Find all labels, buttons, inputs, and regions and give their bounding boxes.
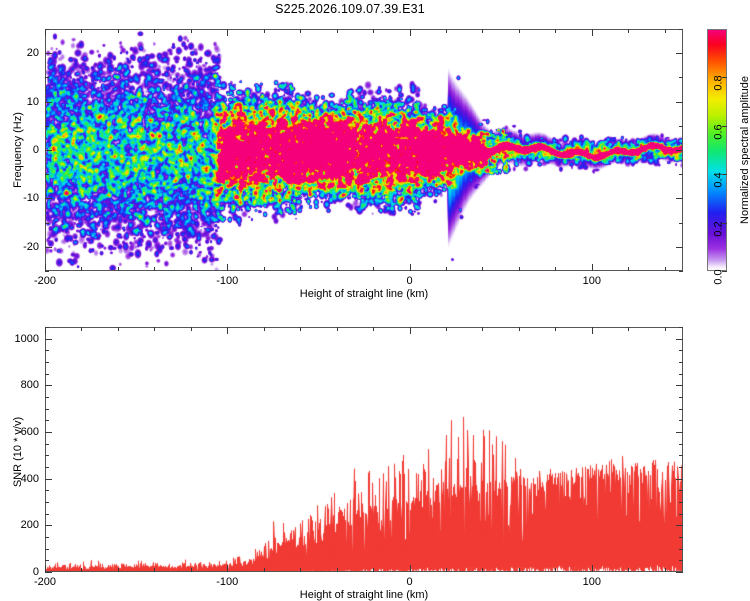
snr-y-major-tick	[676, 572, 683, 573]
snr-y-minor-tick	[45, 455, 49, 456]
spectrogram-x-minor-tick	[373, 267, 374, 271]
snr-x-minor-tick	[81, 327, 82, 331]
spectrogram-y-major-tick	[676, 198, 683, 199]
spectrogram-x-minor-tick	[191, 267, 192, 271]
snr-x-major-tick	[45, 327, 46, 334]
snr-y-minor-tick	[679, 444, 683, 445]
spectrogram-y-major-tick	[45, 247, 52, 248]
snr-y-minor-tick	[679, 549, 683, 550]
snr-x-minor-tick	[373, 568, 374, 572]
spectrogram-x-minor-tick	[337, 29, 338, 33]
colorbar-tick-label: 0.0	[712, 269, 724, 284]
spectrogram-x-minor-tick	[154, 29, 155, 33]
snr-x-minor-tick	[482, 327, 483, 331]
snr-x-tick-label: 100	[583, 576, 601, 588]
snr-x-minor-tick	[337, 568, 338, 572]
spectrogram-x-major-tick	[227, 29, 228, 36]
spectrogram-y-minor-tick	[45, 223, 49, 224]
snr-x-minor-tick	[118, 327, 119, 331]
spectrogram-x-minor-tick	[628, 29, 629, 33]
snr-x-major-tick	[592, 565, 593, 572]
snr-y-minor-tick	[45, 549, 49, 550]
snr-x-minor-tick	[264, 327, 265, 331]
snr-y-minor-tick	[45, 560, 49, 561]
spectrogram-image	[46, 30, 683, 271]
spectrogram-y-major-tick	[45, 198, 52, 199]
snr-y-minor-tick	[679, 514, 683, 515]
snr-x-major-tick	[410, 565, 411, 572]
spectrogram-x-minor-tick	[482, 29, 483, 33]
spectrogram-y-tick-label: -20	[11, 241, 39, 253]
spectrogram-y-major-tick	[676, 150, 683, 151]
snr-y-major-tick	[45, 385, 52, 386]
snr-x-tick-label: -100	[216, 576, 238, 588]
colorbar-tick-label: 0.2	[712, 221, 724, 236]
snr-x-major-tick	[227, 565, 228, 572]
spectrogram-y-minor-tick	[45, 29, 49, 30]
spectrogram-x-minor-tick	[446, 267, 447, 271]
snr-y-major-tick	[45, 479, 52, 480]
spectrogram-y-minor-tick	[679, 126, 683, 127]
snr-y-minor-tick	[679, 327, 683, 328]
spectrogram-y-minor-tick	[679, 77, 683, 78]
spectrogram-x-minor-tick	[264, 267, 265, 271]
snr-x-minor-tick	[555, 327, 556, 331]
spectrogram-x-minor-tick	[81, 29, 82, 33]
snr-x-major-tick	[227, 327, 228, 334]
spectrogram-x-minor-tick	[555, 29, 556, 33]
snr-x-minor-tick	[628, 327, 629, 331]
snr-y-axis-title: SNR (10 * v/v)	[12, 417, 24, 487]
spectrogram-x-minor-tick	[665, 29, 666, 33]
spectrogram-x-minor-tick	[519, 29, 520, 33]
spectrogram-y-tick-label: 20	[11, 47, 39, 59]
spectrogram-y-major-tick	[676, 53, 683, 54]
colorbar-tick-label: 0.8	[712, 76, 724, 91]
snr-x-minor-tick	[665, 327, 666, 331]
spectrogram-x-minor-tick	[482, 267, 483, 271]
spectrogram-x-minor-tick	[300, 267, 301, 271]
snr-x-minor-tick	[81, 568, 82, 572]
snr-panel	[45, 327, 683, 572]
snr-x-minor-tick	[555, 568, 556, 572]
spectrogram-y-minor-tick	[45, 174, 49, 175]
snr-y-minor-tick	[679, 420, 683, 421]
spectrogram-y-minor-tick	[679, 271, 683, 272]
snr-x-tick-label: 0	[407, 576, 413, 588]
spectrogram-x-tick-label: -200	[34, 275, 56, 287]
snr-x-minor-tick	[191, 568, 192, 572]
snr-x-minor-tick	[264, 568, 265, 572]
snr-y-tick-label: 800	[11, 379, 39, 391]
snr-y-minor-tick	[45, 514, 49, 515]
snr-x-minor-tick	[154, 568, 155, 572]
snr-x-major-tick	[592, 327, 593, 334]
snr-y-tick-label: 0	[11, 566, 39, 578]
colorbar-tick-label: 0.4	[712, 173, 724, 188]
snr-y-minor-tick	[45, 327, 49, 328]
spectrogram-x-minor-tick	[373, 29, 374, 33]
snr-y-major-tick	[45, 572, 52, 573]
colorbar-axis-title: Normalized spectral amplitude	[739, 76, 750, 224]
spectrogram-x-minor-tick	[337, 267, 338, 271]
snr-y-minor-tick	[679, 467, 683, 468]
snr-x-minor-tick	[628, 568, 629, 572]
snr-y-minor-tick	[45, 397, 49, 398]
snr-y-minor-tick	[679, 409, 683, 410]
spectrogram-y-minor-tick	[45, 271, 49, 272]
page-title: S225.2026.109.07.39.E31	[0, 2, 700, 16]
snr-x-axis-title: Height of straight line (km)	[300, 589, 428, 601]
spectrogram-x-minor-tick	[81, 267, 82, 271]
snr-x-minor-tick	[446, 327, 447, 331]
spectrogram-y-minor-tick	[679, 29, 683, 30]
snr-y-major-tick	[676, 339, 683, 340]
snr-y-major-tick	[45, 432, 52, 433]
snr-x-minor-tick	[519, 568, 520, 572]
spectrogram-x-minor-tick	[118, 29, 119, 33]
snr-y-major-tick	[45, 525, 52, 526]
spectrogram-x-major-tick	[592, 29, 593, 36]
snr-y-minor-tick	[45, 537, 49, 538]
snr-y-minor-tick	[45, 362, 49, 363]
spectrogram-x-major-tick	[410, 29, 411, 36]
spectrogram-x-major-tick	[45, 264, 46, 271]
figure-root: S225.2026.109.07.39.E31 -200-1000100-20-…	[0, 0, 750, 600]
snr-y-minor-tick	[679, 490, 683, 491]
snr-x-minor-tick	[373, 327, 374, 331]
snr-x-minor-tick	[118, 568, 119, 572]
snr-trace	[46, 328, 683, 572]
snr-y-minor-tick	[45, 444, 49, 445]
spectrogram-x-minor-tick	[555, 267, 556, 271]
snr-y-minor-tick	[679, 537, 683, 538]
spectrogram-x-major-tick	[592, 264, 593, 271]
snr-y-major-tick	[676, 385, 683, 386]
snr-y-major-tick	[45, 339, 52, 340]
snr-y-minor-tick	[45, 420, 49, 421]
colorbar-tick-label: 0.6	[712, 124, 724, 139]
snr-x-minor-tick	[191, 327, 192, 331]
snr-y-minor-tick	[45, 374, 49, 375]
snr-y-major-tick	[676, 432, 683, 433]
spectrogram-x-minor-tick	[191, 29, 192, 33]
spectrogram-panel	[45, 29, 683, 271]
snr-y-minor-tick	[45, 502, 49, 503]
spectrogram-x-minor-tick	[519, 267, 520, 271]
snr-y-minor-tick	[679, 502, 683, 503]
spectrogram-y-minor-tick	[679, 174, 683, 175]
snr-y-minor-tick	[679, 455, 683, 456]
snr-y-minor-tick	[679, 397, 683, 398]
spectrogram-y-major-tick	[676, 247, 683, 248]
snr-y-minor-tick	[45, 467, 49, 468]
spectrogram-x-minor-tick	[118, 267, 119, 271]
spectrogram-x-minor-tick	[628, 267, 629, 271]
spectrogram-y-major-tick	[45, 150, 52, 151]
spectrogram-y-major-tick	[45, 53, 52, 54]
spectrogram-y-major-tick	[45, 102, 52, 103]
spectrogram-x-minor-tick	[300, 29, 301, 33]
snr-y-minor-tick	[679, 374, 683, 375]
snr-y-tick-label: 200	[11, 519, 39, 531]
snr-x-minor-tick	[519, 327, 520, 331]
spectrogram-x-tick-label: 100	[583, 275, 601, 287]
snr-x-minor-tick	[154, 327, 155, 331]
snr-x-major-tick	[410, 327, 411, 334]
spectrogram-y-minor-tick	[45, 77, 49, 78]
snr-y-minor-tick	[45, 350, 49, 351]
spectrogram-x-minor-tick	[264, 29, 265, 33]
snr-y-minor-tick	[679, 362, 683, 363]
snr-y-minor-tick	[679, 560, 683, 561]
snr-y-major-tick	[676, 479, 683, 480]
spectrogram-x-minor-tick	[446, 29, 447, 33]
snr-x-minor-tick	[446, 568, 447, 572]
snr-y-minor-tick	[45, 409, 49, 410]
spectrogram-x-major-tick	[45, 29, 46, 36]
snr-y-major-tick	[676, 525, 683, 526]
spectrogram-y-tick-label: -10	[11, 192, 39, 204]
snr-x-major-tick	[45, 565, 46, 572]
snr-x-minor-tick	[300, 327, 301, 331]
spectrogram-x-minor-tick	[665, 267, 666, 271]
spectrogram-x-major-tick	[410, 264, 411, 271]
snr-x-minor-tick	[300, 568, 301, 572]
spectrogram-y-axis-title: Frequency (Hz)	[12, 112, 24, 188]
spectrogram-y-minor-tick	[45, 126, 49, 127]
snr-x-minor-tick	[665, 568, 666, 572]
snr-y-tick-label: 1000	[11, 333, 39, 345]
spectrogram-y-major-tick	[676, 102, 683, 103]
spectrogram-x-axis-title: Height of straight line (km)	[300, 288, 428, 300]
spectrogram-x-tick-label: 0	[407, 275, 413, 287]
spectrogram-y-tick-label: 10	[11, 96, 39, 108]
snr-y-minor-tick	[679, 350, 683, 351]
spectrogram-y-minor-tick	[679, 223, 683, 224]
spectrogram-x-minor-tick	[154, 267, 155, 271]
spectrogram-x-tick-label: -100	[216, 275, 238, 287]
snr-x-minor-tick	[337, 327, 338, 331]
snr-y-minor-tick	[45, 490, 49, 491]
spectrogram-x-major-tick	[227, 264, 228, 271]
snr-x-minor-tick	[482, 568, 483, 572]
